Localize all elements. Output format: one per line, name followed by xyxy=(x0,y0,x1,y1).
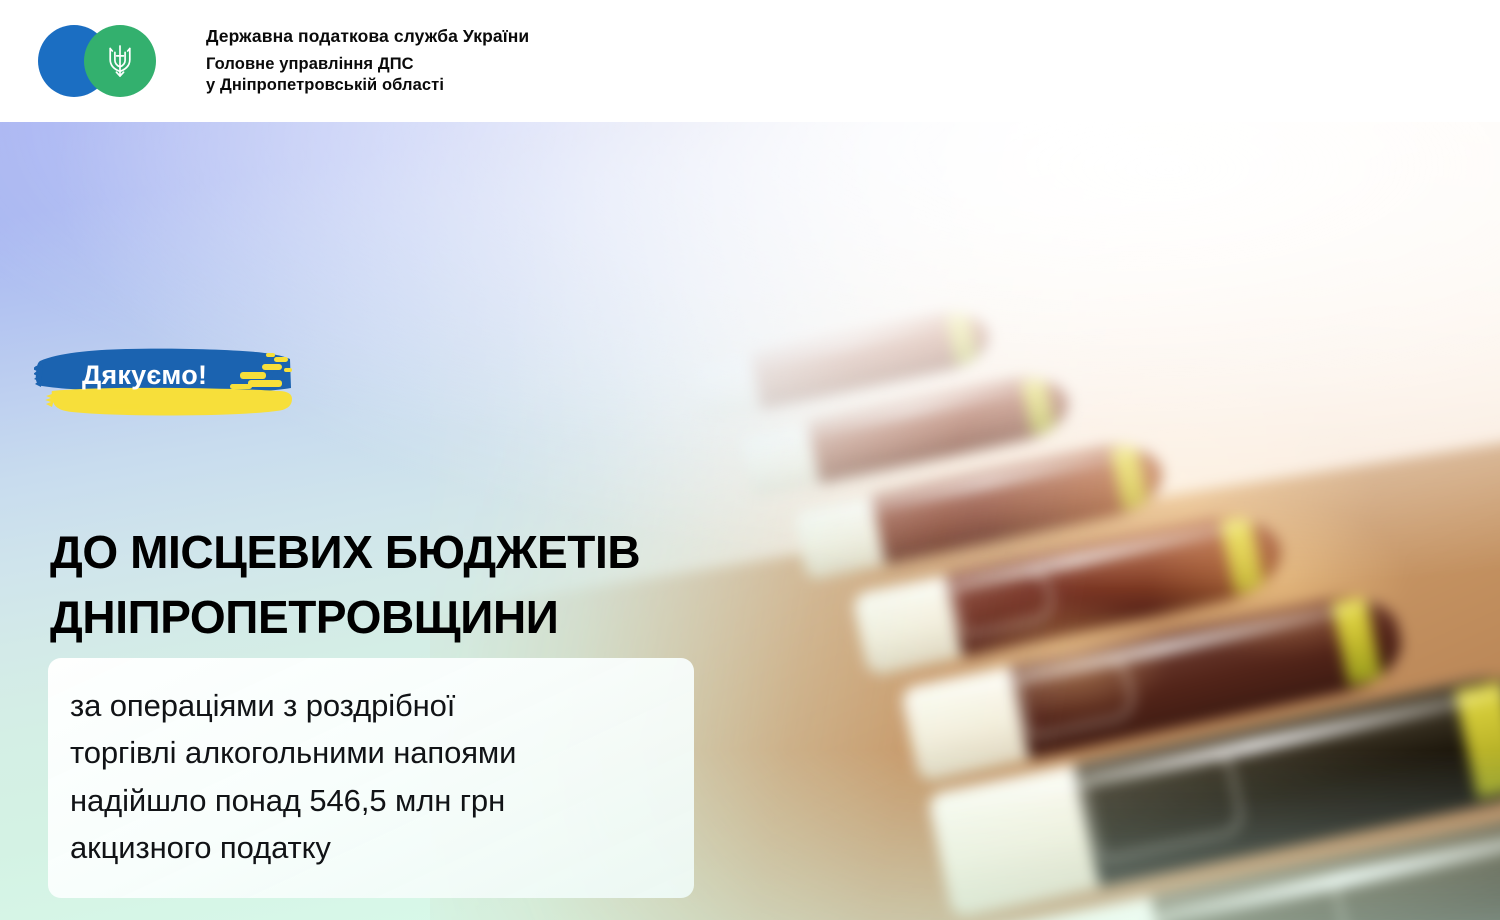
badge-label: Дякуємо! xyxy=(82,362,207,389)
agency-name-national: Державна податкова служба України xyxy=(206,26,529,48)
headline-line-2: ДНІПРОПЕТРОВЩИНИ xyxy=(50,585,840,650)
statement-text: за операціями з роздрібної торгівлі алко… xyxy=(70,682,668,872)
statement-line-1: за операціями з роздрібної xyxy=(70,682,668,729)
green-circle-icon xyxy=(84,25,156,97)
poster-stage: Дякуємо! ДО МІСЦЕВИХ БЮДЖЕТІВ ДНІПРОПЕТР… xyxy=(0,122,1500,920)
headline-line-1: ДО МІСЦЕВИХ БЮДЖЕТІВ xyxy=(50,520,840,585)
agency-title-block: Державна податкова служба України Головн… xyxy=(206,26,529,96)
agency-name-regional-line1: Головне управління ДПС xyxy=(206,54,529,75)
agency-logo xyxy=(38,25,188,97)
headline: ДО МІСЦЕВИХ БЮДЖЕТІВ ДНІПРОПЕТРОВЩИНИ xyxy=(50,520,840,651)
statement-line-3: надійшло понад 546,5 млн грн xyxy=(70,777,668,824)
statement-line-2: торгівлі алкогольними напоями xyxy=(70,729,668,776)
statement-line-4: акцизного податку xyxy=(70,824,668,871)
poster: Державна податкова служба України Головн… xyxy=(0,0,1500,920)
thank-you-badge: Дякуємо! xyxy=(34,344,296,420)
ukrainian-trident-icon xyxy=(105,42,135,80)
statement-panel: за операціями з роздрібної торгівлі алко… xyxy=(48,658,694,898)
agency-name-regional-line2: у Дніпропетровській області xyxy=(206,75,529,96)
brand-header: Державна податкова служба України Головн… xyxy=(0,0,1500,122)
